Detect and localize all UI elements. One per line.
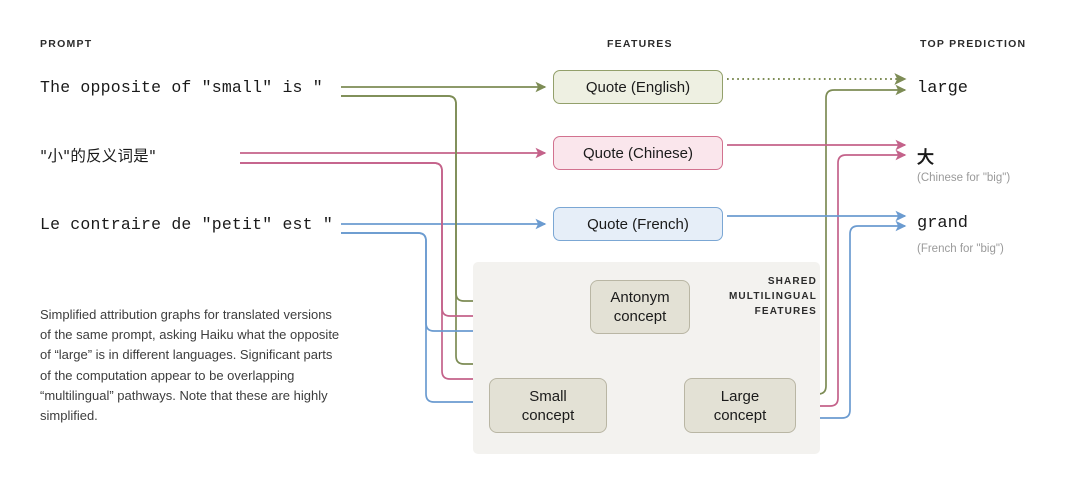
shared-label-line-3: FEATURES <box>705 304 817 319</box>
wire-prompt-en-to-small <box>341 96 487 364</box>
shared-label-line-1: SHARED <box>705 274 817 289</box>
prompt-english: The opposite of "small" is " <box>40 78 323 97</box>
column-header-features: FEATURES <box>607 38 673 50</box>
prediction-french: grand <box>917 214 968 233</box>
figure-caption: Simplified attribution graphs for transl… <box>40 305 345 426</box>
prediction-french-gloss: (French for "big") <box>917 243 1004 255</box>
concept-small-line-2: concept <box>522 407 575 424</box>
column-header-prediction: TOP PREDICTION <box>920 38 1026 50</box>
feature-box-quote-french[interactable]: Quote (French) <box>553 207 723 241</box>
concept-large-line-1: Large <box>721 388 759 405</box>
feature-box-quote-chinese[interactable]: Quote (Chinese) <box>553 136 723 170</box>
prediction-english: large <box>917 79 968 98</box>
concept-large-line-2: concept <box>714 407 767 424</box>
concept-box-small[interactable]: Small concept <box>489 378 607 433</box>
concept-small-line-1: Small <box>529 388 567 405</box>
prediction-chinese-gloss: (Chinese for "big") <box>917 172 1010 184</box>
column-header-prompt: PROMPT <box>40 38 92 50</box>
shared-multilingual-features-label: SHARED MULTILINGUAL FEATURES <box>705 274 817 319</box>
diagram-canvas: PROMPT FEATURES TOP PREDICTION The oppos… <box>0 0 1080 491</box>
wire-prompt-fr-to-small <box>341 233 487 402</box>
concept-box-antonym[interactable]: Antonym concept <box>590 280 690 334</box>
concept-box-large[interactable]: Large concept <box>684 378 796 433</box>
prompt-french: Le contraire de "petit" est " <box>40 215 333 234</box>
shared-label-line-2: MULTILINGUAL <box>705 289 817 304</box>
prompt-chinese: "小"的反义词是" <box>40 144 156 166</box>
prediction-chinese: 大 <box>917 143 934 168</box>
feature-box-quote-english[interactable]: Quote (English) <box>553 70 723 104</box>
concept-antonym-line-2: concept <box>614 308 667 325</box>
concept-antonym-line-1: Antonym <box>610 289 669 306</box>
